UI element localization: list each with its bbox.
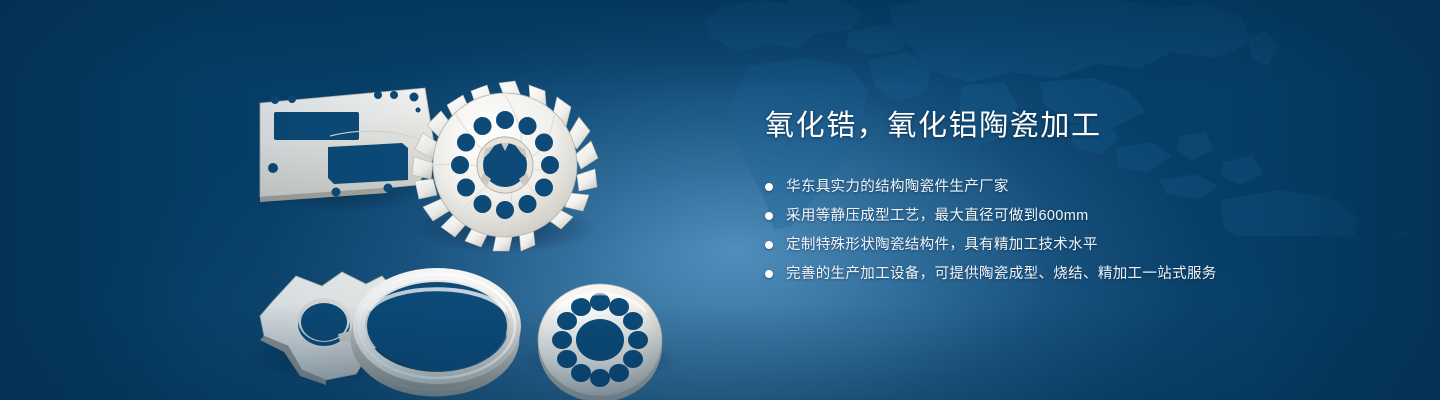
feature-text: 华东具实力的结构陶瓷件生产厂家 (786, 177, 1009, 197)
banner-copy: 氧化锆，氧化铝陶瓷加工 华东具实力的结构陶瓷件生产厂家 采用等静压成型工艺，最大… (765, 112, 1365, 293)
feature-text: 完善的生产加工设备，可提供陶瓷成型、烧结、精加工一站式服务 (786, 264, 1217, 284)
feature-text: 采用等静压成型工艺，最大直径可做到600mm (786, 206, 1089, 226)
list-item: 定制特殊形状陶瓷结构件，具有精加工技术水平 (765, 235, 1365, 255)
feature-list: 华东具实力的结构陶瓷件生产厂家 采用等静压成型工艺，最大直径可做到600mm 定… (765, 177, 1365, 284)
list-item: 采用等静压成型工艺，最大直径可做到600mm (765, 206, 1365, 226)
page-title: 氧化锆，氧化铝陶瓷加工 (765, 112, 1365, 141)
hero-banner: 氧化锆，氧化铝陶瓷加工 华东具实力的结构陶瓷件生产厂家 采用等静压成型工艺，最大… (0, 0, 1440, 400)
list-item: 完善的生产加工设备，可提供陶瓷成型、烧结、精加工一站式服务 (765, 264, 1365, 284)
feature-text: 定制特殊形状陶瓷结构件，具有精加工技术水平 (786, 235, 1098, 255)
bullet-dot-icon (765, 212, 773, 220)
bullet-dot-icon (765, 270, 773, 278)
list-item: 华东具实力的结构陶瓷件生产厂家 (765, 177, 1365, 197)
bullet-dot-icon (765, 183, 773, 191)
bullet-dot-icon (765, 241, 773, 249)
